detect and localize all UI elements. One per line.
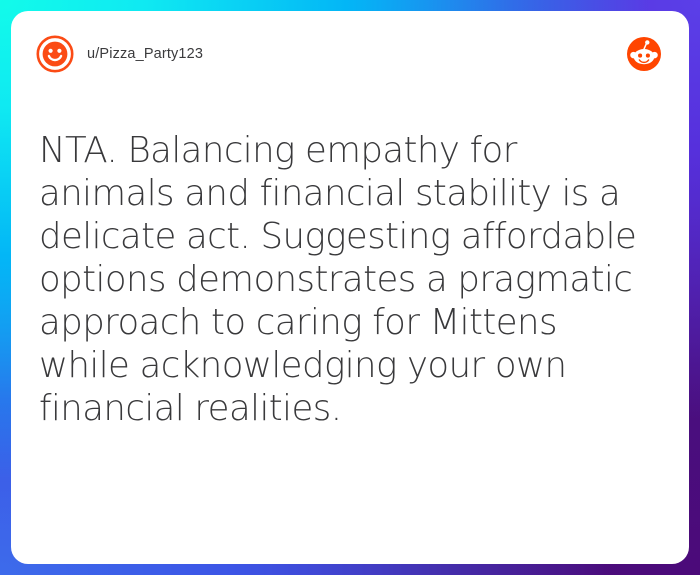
post-text: NTA. Balancing empathy for animals and f… (39, 129, 657, 430)
card-body: NTA. Balancing empathy for animals and f… (11, 129, 689, 430)
username-label: u/Pizza_Party123 (87, 46, 203, 62)
reddit-snoo-logo-icon[interactable] (627, 37, 661, 71)
screenshot-root: u/Pizza_Party123 NTA. Balancing e (0, 0, 700, 575)
reddit-comment-card: u/Pizza_Party123 NTA. Balancing e (11, 11, 689, 564)
card-header: u/Pizza_Party123 (11, 11, 689, 97)
avatar[interactable] (36, 35, 74, 73)
smiley-face-avatar-icon (36, 35, 74, 73)
